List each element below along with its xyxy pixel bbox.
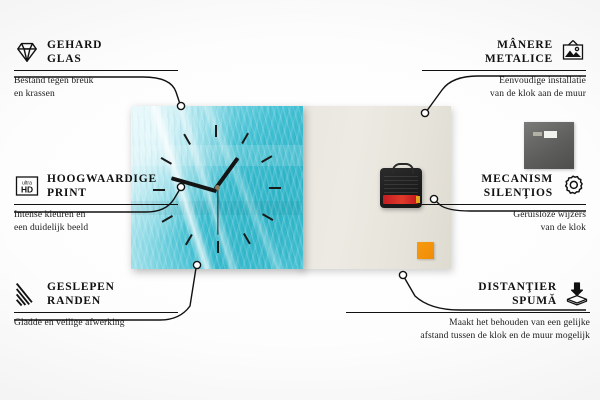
feature-title: DISTANŢIER SPUMĂ	[478, 280, 557, 308]
title-line: HOOGWAARDIGE	[47, 172, 157, 186]
title-line: SPUMĂ	[478, 294, 557, 308]
feature-title: HOOGWAARDIGE PRINT	[47, 172, 157, 200]
divider	[14, 70, 178, 71]
feature-geslepen-randen: GESLEPEN RANDEN Gladde en veilige afwerk…	[14, 280, 178, 330]
gear-icon	[560, 173, 586, 199]
subtitle-line: Bestand tegen breuk	[14, 75, 178, 88]
title-line: GEHARD	[47, 38, 102, 52]
subtitle-line: een duidelijk beeld	[14, 222, 178, 235]
feature-title: MECANISM SILENŢIOS	[481, 172, 553, 200]
title-line: GESLEPEN	[47, 280, 115, 294]
subtitle-line: Eenvoudige installatie	[422, 75, 586, 88]
feature-subtitle: Eenvoudige installatie van de klok aan d…	[422, 75, 586, 100]
subtitle-line: Geruisloze wijzers	[422, 209, 586, 222]
feature-header: GEHARD GLAS	[14, 38, 178, 66]
title-line: SILENŢIOS	[481, 186, 553, 200]
hand-cap	[215, 185, 220, 190]
feature-header: DISTANŢIER SPUMĂ	[346, 280, 590, 308]
feature-subtitle: Bestand tegen breuk en krassen	[14, 75, 178, 100]
diagonal-lines-icon	[14, 281, 40, 307]
feature-hoogwaardige-print: ultra HD HOOGWAARDIGE PRINT Intense kleu…	[14, 172, 178, 234]
second-hand	[217, 188, 218, 234]
title-line: RANDEN	[47, 294, 115, 308]
title-line: PRINT	[47, 186, 157, 200]
feature-mecanism-silentios: MECANISM SILENŢIOS Geruisloze wijzers va…	[422, 172, 586, 234]
subtitle-line: en krassen	[14, 88, 178, 101]
arrow-down-stack-icon	[564, 281, 590, 307]
title-line: MECANISM	[481, 172, 553, 186]
infographic-stage: GEHARD GLAS Bestand tegen breuk en krass…	[0, 0, 600, 400]
title-line: GLAS	[47, 52, 102, 66]
feature-gehard-glas: GEHARD GLAS Bestand tegen breuk en krass…	[14, 38, 178, 100]
subtitle-line: van de klok aan de muur	[422, 88, 586, 101]
battery	[383, 195, 418, 204]
feature-title: GESLEPEN RANDEN	[47, 280, 115, 308]
subtitle-line: Gladde en veilige afwerking	[14, 317, 178, 330]
subtitle-line: Maakt het behouden van een gelijke	[346, 317, 590, 330]
title-line: METALICE	[485, 52, 553, 66]
divider	[422, 204, 586, 205]
feature-distantier-spuma: DISTANŢIER SPUMĂ Maakt het behouden van …	[346, 280, 590, 342]
ultra-hd-icon: ultra HD	[14, 173, 40, 199]
title-line: MÂNERE	[485, 38, 553, 52]
divider	[14, 204, 178, 205]
svg-text:HD: HD	[21, 184, 33, 194]
feature-subtitle: Maakt het behouden van een gelijke afsta…	[346, 317, 590, 342]
feature-header: GESLEPEN RANDEN	[14, 280, 178, 308]
feature-title: GEHARD GLAS	[47, 38, 102, 66]
feature-header: ultra HD HOOGWAARDIGE PRINT	[14, 172, 178, 200]
diamond-icon	[14, 39, 40, 65]
hanger-groove	[533, 132, 542, 136]
foam-spacer	[417, 242, 434, 259]
subtitle-line: Intense kleuren en	[14, 209, 178, 222]
mechanism-texture	[384, 173, 418, 193]
metal-hanger-plate	[524, 122, 574, 169]
divider	[422, 70, 586, 71]
feature-manere-metalice: MÂNERE METALICE Eenvoudige installatie v…	[422, 38, 586, 100]
feature-subtitle: Geruisloze wijzers van de klok	[422, 209, 586, 234]
divider	[14, 312, 178, 313]
feature-subtitle: Intense kleuren en een duidelijk beeld	[14, 209, 178, 234]
feature-subtitle: Gladde en veilige afwerking	[14, 317, 178, 330]
product-image	[131, 106, 451, 269]
divider	[346, 312, 590, 313]
title-line: DISTANŢIER	[478, 280, 557, 294]
feature-title: MÂNERE METALICE	[485, 38, 553, 66]
clock-mechanism	[380, 168, 422, 208]
subtitle-line: afstand tussen de klok en de muur mogeli…	[346, 330, 590, 343]
picture-frame-hanging-icon	[560, 39, 586, 65]
feature-header: MÂNERE METALICE	[422, 38, 586, 66]
hanger-slot	[544, 131, 557, 138]
feature-header: MECANISM SILENŢIOS	[422, 172, 586, 200]
subtitle-line: van de klok	[422, 222, 586, 235]
